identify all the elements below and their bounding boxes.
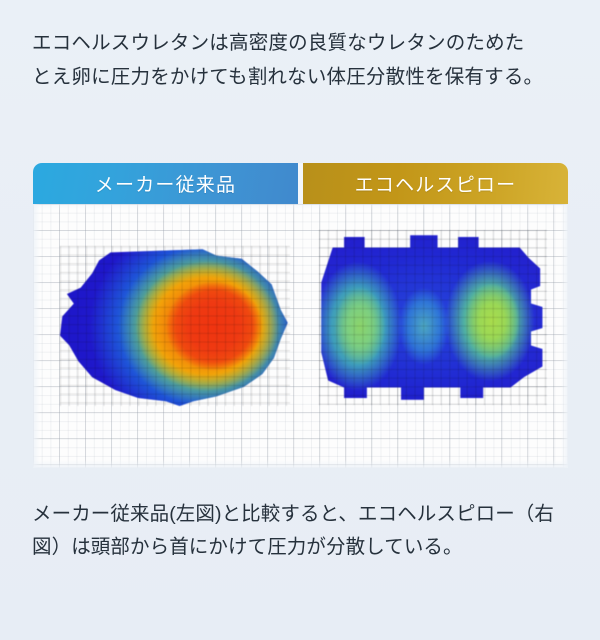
comparison-headers: メーカー従来品 エコヘルスピロー	[33, 163, 568, 204]
header-conventional-label: メーカー従来品	[95, 170, 236, 197]
caption-line-1: メーカー従来品(左図)と比較すると、エコヘルスピロー（右	[32, 498, 578, 531]
heatmap-ecohealth-pillow	[319, 230, 547, 405]
header-conventional-product: メーカー従来品	[33, 163, 298, 204]
heatmap-ecohealth-body	[319, 230, 547, 405]
intro-line-1: エコヘルスウレタンは高密度の良質なウレタンのためた	[32, 26, 572, 60]
intro-line-2: とえ卵に圧力をかけても割れない体圧分散性を保有する。	[32, 60, 572, 94]
heatmap-conventional-product	[60, 246, 290, 406]
pressure-comparison-figure: メーカー従来品 エコヘルスピロー	[33, 163, 568, 468]
header-ecohealth-label: エコヘルスピロー	[355, 170, 517, 197]
intro-paragraph: エコヘルスウレタンは高密度の良質なウレタンのためた とえ卵に圧力をかけても割れな…	[32, 26, 572, 94]
caption-line-2: 図）は頭部から首にかけて圧力が分散している。	[32, 531, 578, 564]
header-ecohealth-pillow: エコヘルスピロー	[303, 163, 568, 204]
figure-caption: メーカー従来品(左図)と比較すると、エコヘルスピロー（右 図）は頭部から首にかけ…	[32, 498, 578, 564]
heatmap-conventional-body	[60, 246, 290, 406]
page-background: エコヘルスウレタンは高密度の良質なウレタンのためた とえ卵に圧力をかけても割れな…	[0, 0, 600, 640]
pressure-map-grid-paper	[33, 204, 568, 468]
